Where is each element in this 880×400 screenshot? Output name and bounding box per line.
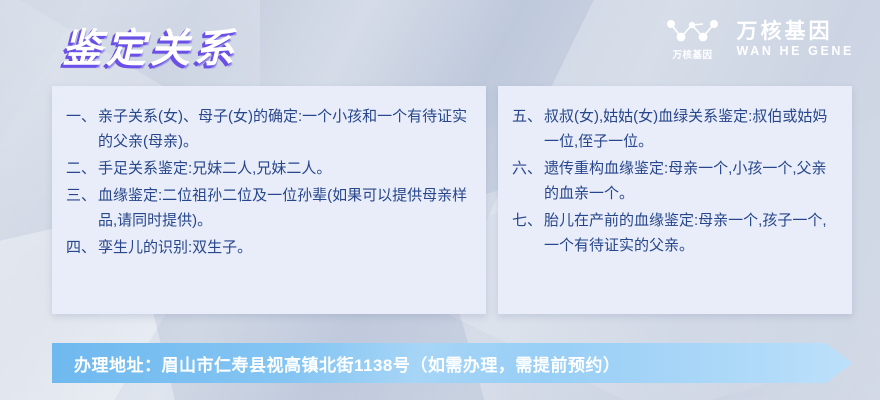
page-title: 鉴定关系	[62, 16, 238, 74]
list-item: 六、 遗传重构血缘鉴定:母亲一个,小孩一个,父亲的血亲一个。	[512, 156, 838, 206]
panel-right: 五、 叔叔(女),姑姑(女)血绿关系鉴定:叔伯或姑妈一位,侄子一位。 六、 遗传…	[498, 86, 852, 314]
list-item-number: 六、	[512, 156, 544, 181]
brand-logo: 万核基因 万核基因 WAN HE GENE	[665, 18, 855, 61]
list-item: 七、 胎儿在产前的血缘鉴定:母亲一个,孩子一个,一个有待证实的父亲。	[512, 208, 838, 258]
list-item-number: 一、	[66, 104, 98, 129]
list-item-text: 血缘鉴定:二位祖孙二位及一位孙辈(如果可以提供母亲样品,请同时提供)。	[98, 183, 472, 233]
list-item-text: 手足关系鉴定:兄妹二人,兄妹二人。	[98, 156, 472, 181]
address-text: 办理地址：眉山市仁寿县视高镇北街1138号（如需办理，需提前预约）	[74, 343, 620, 383]
brand-wordmark: 万核基因 WAN HE GENE	[737, 21, 855, 58]
list-item: 三、 血缘鉴定:二位祖孙二位及一位孙辈(如果可以提供母亲样品,请同时提供)。	[66, 183, 472, 233]
list-item: 四、 孪生儿的识别:双生子。	[66, 235, 472, 260]
list-item-number: 四、	[66, 235, 98, 260]
content-panels: 一、 亲子关系(女)、母子(女)的确定:一个小孩和一个有待证实的父亲(母亲)。 …	[52, 86, 852, 314]
list-item: 二、 手足关系鉴定:兄妹二人,兄妹二人。	[66, 156, 472, 181]
list-item-number: 三、	[66, 183, 98, 208]
address-banner: 办理地址：眉山市仁寿县视高镇北街1138号（如需办理，需提前预约）	[52, 343, 852, 383]
list-item-number: 五、	[512, 104, 544, 129]
list-item-text: 胎儿在产前的血缘鉴定:母亲一个,孩子一个,一个有待证实的父亲。	[544, 208, 838, 258]
panel-left: 一、 亲子关系(女)、母子(女)的确定:一个小孩和一个有待证实的父亲(母亲)。 …	[52, 86, 486, 314]
list-item: 一、 亲子关系(女)、母子(女)的确定:一个小孩和一个有待证实的父亲(母亲)。	[66, 104, 472, 154]
molecule-network-icon	[665, 18, 721, 44]
list-item-number: 二、	[66, 156, 98, 181]
slide-canvas: 鉴定关系	[0, 0, 880, 400]
brand-mark-label: 万核基因	[672, 47, 712, 61]
list-item: 五、 叔叔(女),姑姑(女)血绿关系鉴定:叔伯或姑妈一位,侄子一位。	[512, 104, 838, 154]
list-item-text: 叔叔(女),姑姑(女)血绿关系鉴定:叔伯或姑妈一位,侄子一位。	[544, 104, 838, 154]
brand-mark: 万核基因	[665, 18, 721, 61]
list-item-text: 亲子关系(女)、母子(女)的确定:一个小孩和一个有待证实的父亲(母亲)。	[98, 104, 472, 154]
brand-name-en: WAN HE GENE	[737, 45, 855, 58]
list-item-text: 遗传重构血缘鉴定:母亲一个,小孩一个,父亲的血亲一个。	[544, 156, 838, 206]
list-item-text: 孪生儿的识别:双生子。	[98, 235, 472, 260]
list-item-number: 七、	[512, 208, 544, 233]
brand-name-cn: 万核基因	[737, 21, 855, 43]
